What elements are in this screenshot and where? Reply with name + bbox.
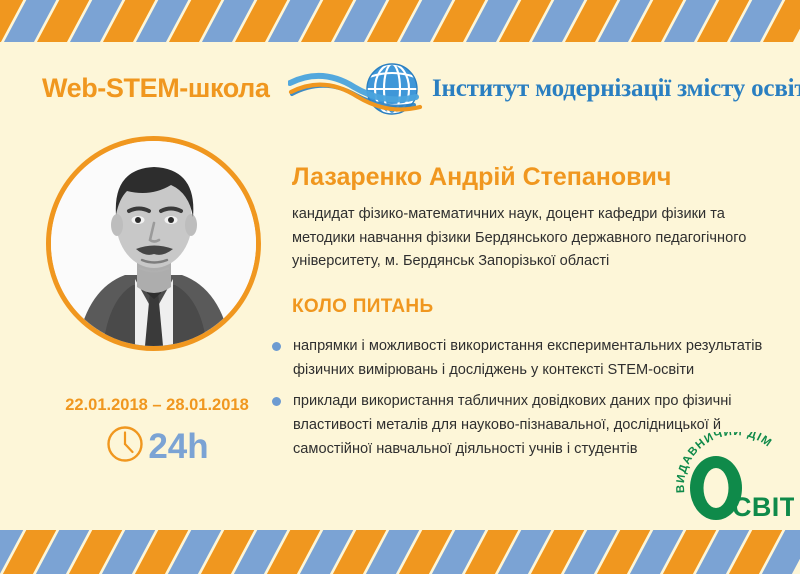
institute-name: Інститут модернізації змісту освіти xyxy=(432,75,800,103)
institute-logo: Інститут модернізації змісту освіти xyxy=(288,60,778,118)
bullet-icon xyxy=(272,397,281,406)
topic-text: напрямки і можливості використання експе… xyxy=(293,338,762,378)
clock-icon xyxy=(105,424,145,469)
topic-item: напрямки і можливості використання експе… xyxy=(270,335,790,382)
svg-text:СВІТА: СВІТА xyxy=(732,492,794,522)
topics-heading: КОЛО ПИТАНЬ xyxy=(292,296,433,318)
topic-text: приклади використання табличних довідков… xyxy=(293,393,732,456)
top-stripe-band xyxy=(0,0,800,42)
bullet-icon xyxy=(272,342,281,351)
globe-swoosh-icon xyxy=(288,61,438,117)
webinar-poster: Web-STEM-школа xyxy=(0,0,800,574)
speaker-portrait xyxy=(46,136,261,351)
publisher-logo: ВИДАВНИЧИЙ ДІМ СВІТА xyxy=(676,432,794,530)
speaker-name: Лазаренко Андрій Степанович xyxy=(292,163,671,192)
bottom-stripe-band xyxy=(0,530,800,574)
portrait-image xyxy=(51,141,256,346)
duration-row: 24h xyxy=(57,424,257,469)
duration-label: 24h xyxy=(148,429,208,464)
program-title: Web-STEM-школа xyxy=(42,73,270,104)
date-range: 22.01.2018 – 28.01.2018 xyxy=(57,396,257,415)
speaker-description: кандидат фізико-математичних наук, доцен… xyxy=(292,203,787,274)
